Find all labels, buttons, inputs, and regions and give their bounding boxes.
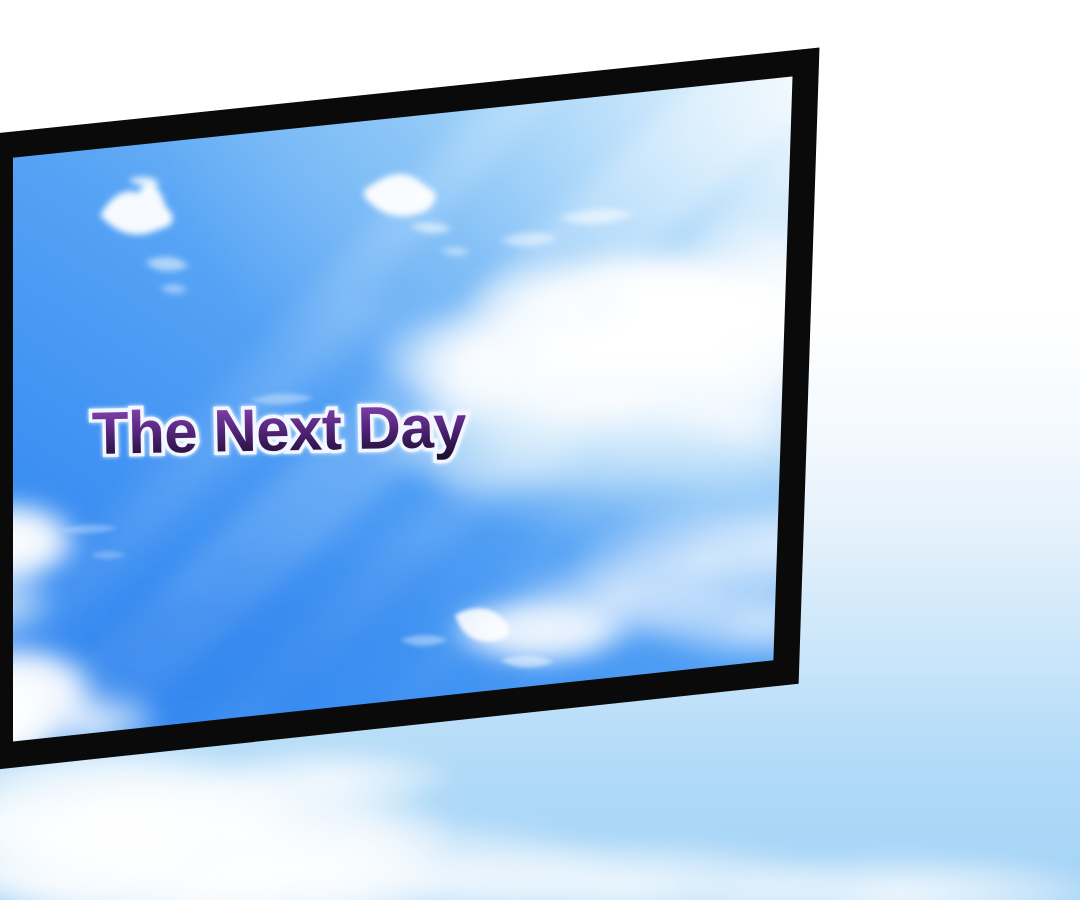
comic-page: The Next Day The Next Day (0, 0, 1080, 900)
panel-caption: The Next Day The Next Day (91, 397, 466, 464)
caption-fill-layer: The Next Day (91, 393, 466, 467)
